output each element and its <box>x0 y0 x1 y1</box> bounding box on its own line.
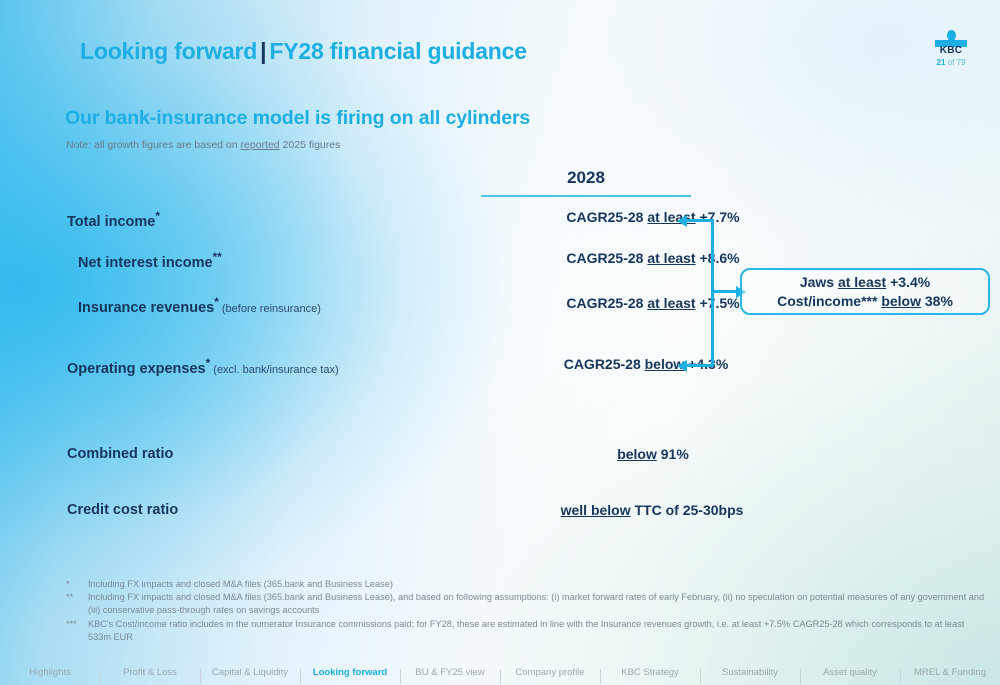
connector-bottom-line <box>685 364 712 367</box>
connector-mid-line <box>711 290 739 293</box>
connector-bracket <box>676 210 746 375</box>
row-value-prefix: CAGR25-28 <box>566 295 647 311</box>
page-total: 79 <box>957 58 966 67</box>
footnote-item: *** KBC's Cost/income ratio includes in … <box>66 618 986 644</box>
callout-cost-income-value: 38% <box>921 293 953 309</box>
page-indicator: 21 of 79 <box>928 58 974 67</box>
footnote-mark: ** <box>66 591 88 617</box>
row-label: Operating expenses*(excl. bank/insurance… <box>67 356 339 377</box>
row-value-number: 91% <box>657 446 689 462</box>
footnote-text: KBC's Cost/income ratio includes in the … <box>88 618 986 644</box>
row-value-qualifier: well below <box>561 502 631 518</box>
footnote-text: Including FX impacts and closed M&A file… <box>88 578 986 591</box>
row-value-prefix: CAGR25-28 <box>566 250 647 266</box>
row-value-prefix: CAGR25-28 <box>566 209 647 225</box>
nav-item-bu-fy25-view[interactable]: BU & FY25 view <box>400 667 500 678</box>
row-label-text: Insurance revenues <box>78 300 214 316</box>
page-title-part1: Looking forward <box>80 38 257 64</box>
table-row: Total income* CAGR25-28 at least +7.7% <box>67 209 691 231</box>
row-value-qualifier: below <box>617 446 657 462</box>
nav-item-capital-liquidity[interactable]: Capital & Liquidity <box>200 667 300 678</box>
footnote-item: * Including FX impacts and closed M&A fi… <box>66 578 986 591</box>
row-label: Combined ratio <box>67 446 173 462</box>
arrow-left-top-icon <box>677 215 687 227</box>
slide-subtitle: Our bank-insurance model is firing on al… <box>65 107 530 130</box>
callout-jaws-qualifier: at least <box>838 274 886 290</box>
table-row: Net interest income** CAGR25-28 at least… <box>78 250 691 272</box>
callout-box: Jaws at least +3.4% Cost/income*** below… <box>740 268 990 315</box>
bottom-nav: Highlights Profit & Loss Capital & Liqui… <box>0 659 1000 685</box>
callout-line-jaws: Jaws at least +3.4% <box>800 273 930 292</box>
footnote-mark: *** <box>66 618 88 644</box>
row-label: Total income* <box>67 209 160 230</box>
callout-jaws-label: Jaws <box>800 274 838 290</box>
page-title: Looking forward|FY28 financial guidance <box>80 38 527 65</box>
nav-item-highlights[interactable]: Highlights <box>0 667 100 678</box>
row-label-parenthetical: (before reinsurance) <box>219 303 321 315</box>
table-row: Credit cost ratio well below TTC of 25-3… <box>67 502 691 524</box>
note-underlined: reported <box>241 139 280 151</box>
page-current: 21 <box>937 58 946 67</box>
row-label: Insurance revenues*(before reinsurance) <box>78 295 321 316</box>
slide-note: Note: all growth figures are based on re… <box>66 139 340 151</box>
footnote-mark: * <box>66 578 88 591</box>
nav-item-profit-loss[interactable]: Profit & Loss <box>100 667 200 678</box>
footnote-item: ** Including FX impacts and closed M&A f… <box>66 591 986 617</box>
row-value: well below TTC of 25-30bps <box>522 502 782 518</box>
row-value-number: TTC of 25-30bps <box>631 502 744 518</box>
arrow-left-bottom-icon <box>677 360 687 372</box>
kbc-logo-icon: KBC <box>932 30 970 56</box>
note-prefix: Note: all growth figures are based on <box>66 139 241 151</box>
callout-jaws-value: +3.4% <box>886 274 930 290</box>
row-label-footnote-mark: * <box>155 209 160 223</box>
column-header-rule <box>481 195 691 197</box>
row-value: below 91% <box>548 446 758 462</box>
kbc-logo: KBC 21 of 79 <box>928 30 974 67</box>
row-label-text: Credit cost ratio <box>67 502 178 518</box>
row-label-text: Combined ratio <box>67 446 173 462</box>
table-row: Operating expenses*(excl. bank/insurance… <box>67 356 691 378</box>
footnotes: * Including FX impacts and closed M&A fi… <box>66 578 986 644</box>
row-label: Net interest income** <box>78 250 222 271</box>
row-label-text: Total income <box>67 214 155 230</box>
connector-top-line <box>685 219 712 222</box>
table-row: Combined ratio below 91% <box>67 446 691 468</box>
callout-line-cost-income: Cost/income*** below 38% <box>777 292 953 311</box>
row-value-prefix: CAGR25-28 <box>564 356 645 372</box>
note-suffix: 2025 figures <box>280 139 341 151</box>
table-row: Insurance revenues*(before reinsurance) … <box>78 295 691 317</box>
column-header-year: 2028 <box>481 168 691 188</box>
nav-item-asset-quality[interactable]: Asset quality <box>800 667 900 678</box>
page-title-part2: FY28 financial guidance <box>269 38 526 64</box>
nav-item-sustainability[interactable]: Sustainability <box>700 667 800 678</box>
title-separator: | <box>257 38 269 64</box>
row-label-footnote-mark: ** <box>213 250 222 264</box>
nav-item-looking-forward[interactable]: Looking forward <box>300 667 400 678</box>
nav-item-mrel-funding[interactable]: MREL & Funding <box>900 667 1000 678</box>
nav-item-company-profile[interactable]: Company profile <box>500 667 600 678</box>
footnote-text: Including FX impacts and closed M&A file… <box>88 591 986 617</box>
connector-vertical-line <box>711 219 714 367</box>
row-label-parenthetical: (excl. bank/insurance tax) <box>210 364 338 376</box>
row-label: Credit cost ratio <box>67 502 178 518</box>
callout-cost-income-qualifier: below <box>881 293 921 309</box>
row-label-text: Operating expenses <box>67 361 206 377</box>
nav-item-kbc-strategy[interactable]: KBC Strategy <box>600 667 700 678</box>
callout-cost-income-label: Cost/income*** <box>777 293 881 309</box>
row-label-text: Net interest income <box>78 255 213 271</box>
page-of-label: of <box>948 58 955 67</box>
column-header: 2028 <box>481 168 691 197</box>
slide-canvas: Looking forward|FY28 financial guidance … <box>0 0 1000 685</box>
logo-wordmark: KBC <box>932 46 970 56</box>
